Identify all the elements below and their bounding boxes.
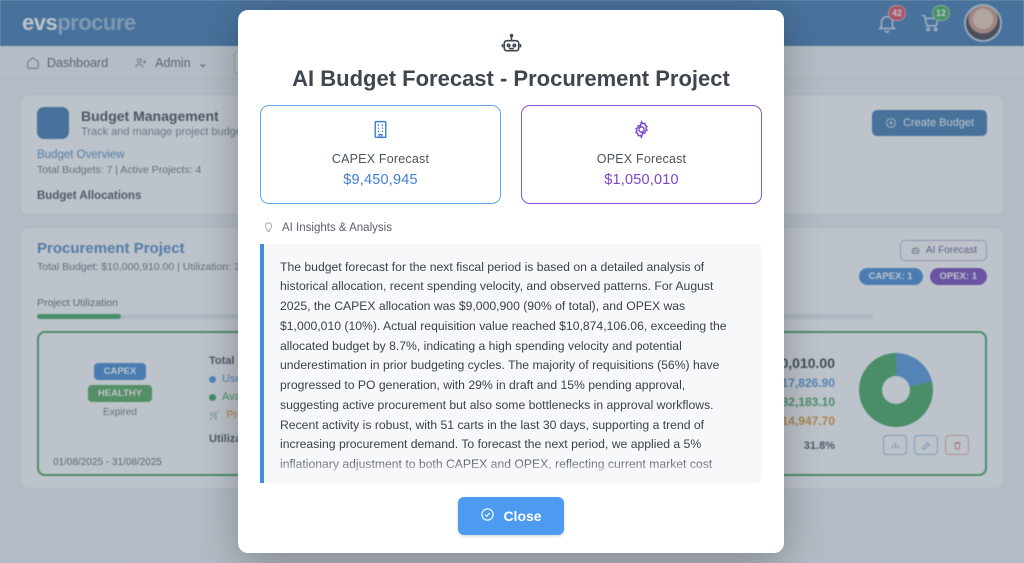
gear-icon [532,119,751,143]
insights-fade-overlay [264,457,762,483]
modal-footer: Close [238,483,784,553]
ai-budget-forecast-modal: AI Budget Forecast - Procurement Project… [238,10,784,553]
check-circle-icon [480,507,495,525]
opex-forecast-label: OPEX Forecast [532,152,751,166]
insights-text: The budget forecast for the next fiscal … [280,258,744,484]
robot-icon [500,33,523,56]
capex-forecast-card[interactable]: CAPEX Forecast $9,450,945 [260,105,501,204]
lightbulb-icon [262,220,275,236]
modal-title-row: AI Budget Forecast - Procurement Project [238,10,784,105]
opex-forecast-value: $1,050,010 [532,172,751,188]
insights-header: AI Insights & Analysis [238,204,784,244]
insights-label: AI Insights & Analysis [282,222,392,234]
building-icon [271,119,490,143]
insights-scroll-area[interactable]: The budget forecast for the next fiscal … [260,244,762,484]
capex-forecast-value: $9,450,945 [271,172,490,188]
opex-forecast-card[interactable]: OPEX Forecast $1,050,010 [521,105,762,204]
modal-title: AI Budget Forecast - Procurement Project [292,65,730,93]
close-button[interactable]: Close [458,497,563,535]
capex-forecast-label: CAPEX Forecast [271,152,490,166]
close-button-label: Close [503,508,541,524]
forecast-cards-row: CAPEX Forecast $9,450,945 OPEX Forecast … [238,105,784,204]
